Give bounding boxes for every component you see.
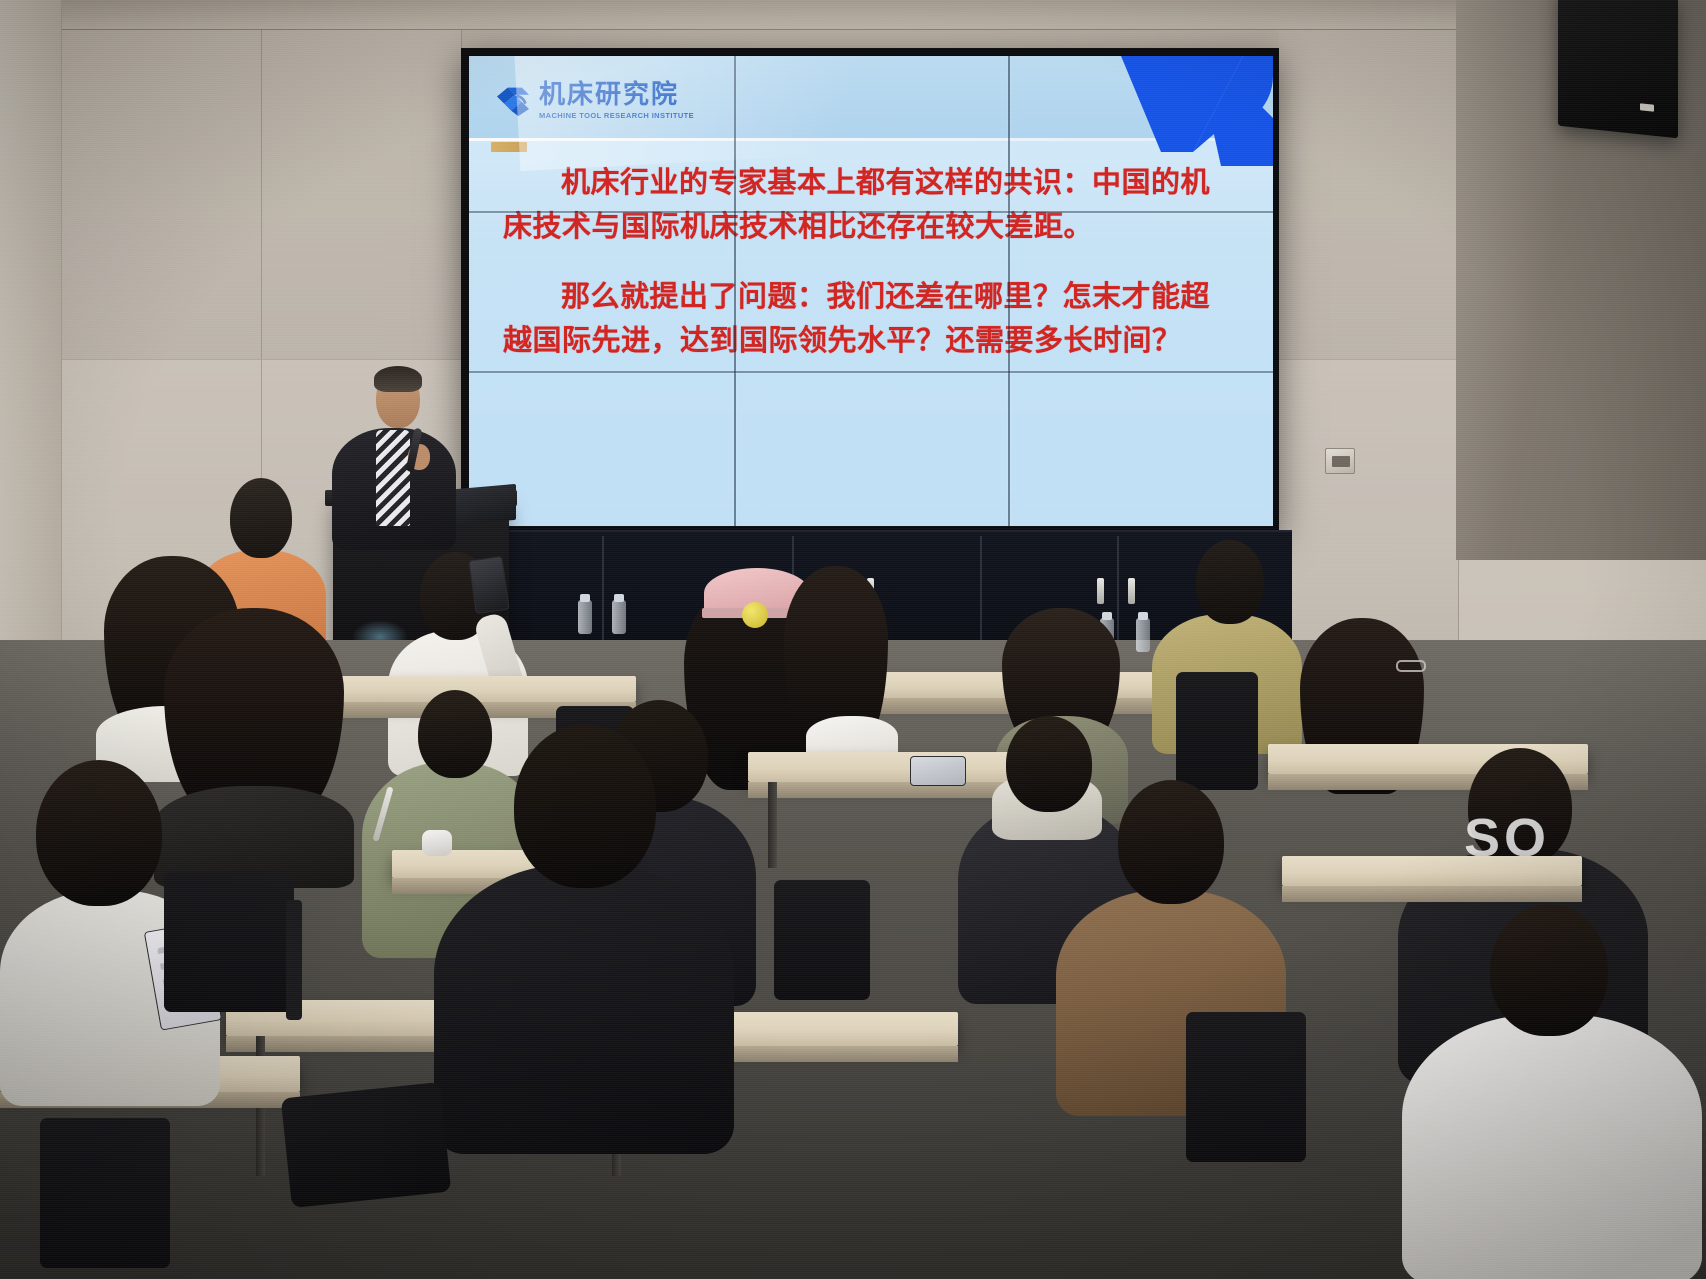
wall-left-column [0,0,62,700]
chair-backrest[interactable] [774,880,870,1000]
bag-on-desk[interactable] [281,1082,452,1208]
panel-seam [1008,56,1010,526]
bottle-cap [580,594,590,602]
video-wall-display[interactable]: 机床研究院 MACHINE TOOL RESEARCH INSTITUTE 机床… [461,48,1279,531]
smartphone-recording[interactable] [468,556,509,614]
slide-text-body: 机床行业的专家基本上都有这样的共识：中国的机床技术与国际机床技术相比还存在较大差… [469,160,1273,362]
desk-leg [768,782,777,868]
audience-member-in-white-hoodie [1402,904,1702,1279]
ceiling-band [0,0,1706,30]
wall-panel [1279,30,1459,360]
panel-seam [469,211,1273,213]
blue-chevron-graphic-icon [1043,56,1273,166]
logo-name-cn: 机床研究院 [539,82,694,108]
slide-paragraph-2: 那么就提出了问题：我们还差在哪里？怎末才能超越国际先进，达到国际领先水平？还需要… [503,274,1239,362]
wall-panel [262,30,462,360]
chair-backrest[interactable] [1176,672,1258,790]
machine-tool-research-institute-logo-icon [495,85,531,117]
presentation-slide: 机床研究院 MACHINE TOOL RESEARCH INSTITUTE 机床… [469,56,1273,526]
water-bottle[interactable] [612,600,626,634]
desk-row-front [1282,856,1582,886]
presenter-shirt [376,430,410,526]
audience-member-front-center [434,724,734,1144]
slide-paragraph-1: 机床行业的专家基本上都有这样的共识：中国的机床技术与国际机床技术相比还存在较大差… [503,160,1239,248]
chair-frame [286,900,302,1020]
wall-panel [1279,360,1459,660]
wall-control-panel-icon[interactable] [1325,448,1355,474]
audience-body [1402,1014,1702,1279]
logo-name-en: MACHINE TOOL RESEARCH INSTITUTE [539,111,694,120]
slide-accent-tab [491,142,527,152]
cap-charm-icon [742,602,768,628]
audience-body [434,864,734,1154]
presenter [330,366,460,546]
lecture-hall-photo: 机床研究院 MACHINE TOOL RESEARCH INSTITUTE 机床… [0,0,1706,1279]
cabinet-handle[interactable] [1097,578,1104,604]
tablet-on-desk[interactable] [910,756,966,786]
audience-head [1490,904,1608,1036]
audience-head [1196,540,1264,624]
presenter-hair [374,366,422,392]
panel-seam [469,371,1273,373]
water-bottle[interactable] [1136,618,1150,652]
chair-backrest[interactable] [1186,1012,1306,1162]
audience-head [514,724,656,888]
audience-member [784,566,894,766]
audience-head [1118,780,1224,904]
institute-logo: 机床研究院 MACHINE TOOL RESEARCH INSTITUTE [495,82,694,120]
bottle-cap [614,594,624,602]
earbuds-case-icon[interactable] [422,830,452,856]
water-bottle[interactable] [578,600,592,634]
wall-speaker-icon [1558,0,1678,138]
logo-text-block: 机床研究院 MACHINE TOOL RESEARCH INSTITUTE [539,82,694,120]
cabinet-handle[interactable] [1128,578,1135,604]
audience-head [36,760,162,906]
desk-front-edge [1282,886,1582,902]
panel-seam [734,56,736,526]
chair-backrest[interactable] [164,872,294,1012]
wall-panel [62,30,262,360]
speaker-indicator-icon [1640,103,1654,111]
audience-head [230,478,292,558]
bottle-cap [1138,612,1148,620]
chair-backrest[interactable] [40,1118,170,1268]
eyeglasses-icon [1396,660,1426,672]
